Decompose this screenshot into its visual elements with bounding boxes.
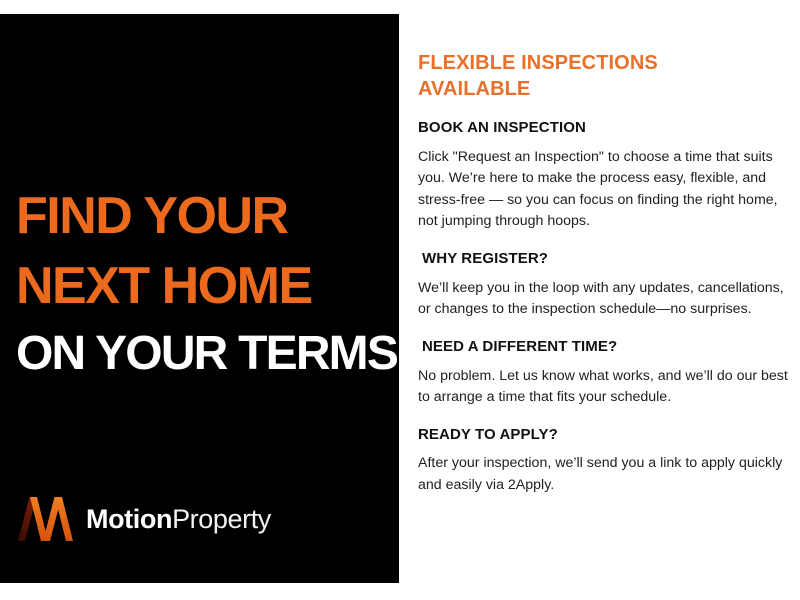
brand-wordmark-primary: Motion xyxy=(86,504,172,534)
content-eyebrow-title: FLEXIBLE INSPECTIONS AVAILABLE xyxy=(418,50,718,103)
brand-wordmark-secondary: Property xyxy=(172,504,271,534)
section-body-need-a-different-time: No problem. Let us know what works, and … xyxy=(418,366,794,409)
section-ready-to-apply: READY TO APPLY? After your inspection, w… xyxy=(418,426,794,497)
section-heading-need-a-different-time: NEED A DIFFERENT TIME? xyxy=(418,338,794,357)
brand-wordmark: MotionProperty xyxy=(86,506,271,533)
hero-headline-line-1: FIND YOUR xyxy=(16,190,388,242)
hero-headline-line-2: NEXT HOME xyxy=(16,260,388,312)
section-body-why-register: We’ll keep you in the loop with any upda… xyxy=(418,278,794,321)
section-body-book-an-inspection: Click "Request an Inspection" to choose … xyxy=(418,147,794,233)
section-heading-why-register: WHY REGISTER? xyxy=(418,250,794,269)
content-panel: FLEXIBLE INSPECTIONS AVAILABLE BOOK AN I… xyxy=(418,50,794,497)
section-body-ready-to-apply: After your inspection, we’ll send you a … xyxy=(418,453,794,496)
section-book-an-inspection: BOOK AN INSPECTION Click "Request an Ins… xyxy=(418,119,794,233)
motion-m-logo-icon xyxy=(18,497,74,541)
hero-headline-line-3: ON YOUR TERMS xyxy=(16,330,388,378)
section-need-a-different-time: NEED A DIFFERENT TIME? No problem. Let u… xyxy=(418,338,794,409)
promotional-banner: FIND YOUR NEXT HOME ON YOUR TERMS xyxy=(0,0,800,600)
section-heading-book-an-inspection: BOOK AN INSPECTION xyxy=(418,119,794,138)
hero-headline: FIND YOUR NEXT HOME ON YOUR TERMS xyxy=(16,190,388,378)
hero-panel: FIND YOUR NEXT HOME ON YOUR TERMS xyxy=(0,14,399,583)
section-heading-ready-to-apply: READY TO APPLY? xyxy=(418,426,794,445)
section-why-register: WHY REGISTER? We’ll keep you in the loop… xyxy=(418,250,794,321)
brand-logo: MotionProperty xyxy=(18,497,271,541)
